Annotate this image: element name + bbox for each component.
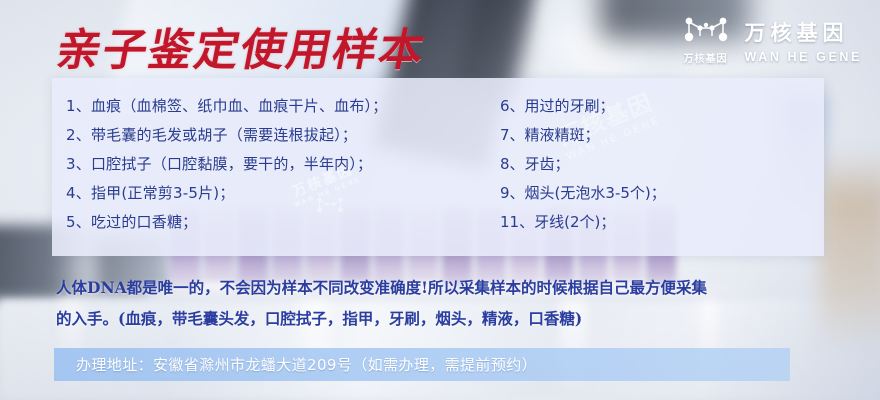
note-line-1: 人体DNA都是唯一的，不会因为样本不同改变准确度!所以采集样本的时候根据自己最方… [56,278,707,297]
list-item: 1、血痕（血棉签、纸巾血、血痕干片、血布）； [66,92,500,121]
list-item: 3、口腔拭子（口腔黏膜，要干的，半年内）； [66,150,500,179]
list-item: 4、指甲(正常剪3-5片)； [66,179,500,208]
list-item: 6、用过的牙刷； [500,92,824,121]
page-title: 亲子鉴定使用样本 [52,14,432,78]
list-item: 7、精液精斑； [500,121,824,150]
sample-list-right: 6、用过的牙刷； 7、精液精斑； 8、牙齿； 9、烟头(无泡水3-5个)； 11… [500,92,824,256]
logo-mark-label: 万核基因 [684,50,728,65]
list-item: 11、牙线(2个)； [500,208,824,237]
list-item: 9、烟头(无泡水3-5个)； [500,179,824,208]
brand-name-cn: 万核基因 [745,17,849,47]
sample-columns: 1、血痕（血棉签、纸巾血、血痕干片、血布）； 2、带毛囊的毛发或胡子（需要连根拔… [52,78,824,256]
address-bar: 办理地址：安徽省滁州市龙蟠大道209号（如需办理，需提前预约） [54,348,790,381]
brand-logo: 万核基因 万核基因 WAN HE GENE [683,16,863,65]
molecule-icon [683,16,729,46]
address-text: 办理地址：安徽省滁州市龙蟠大道209号（如需办理，需提前预约） [54,354,537,375]
logo-mark: 万核基因 [683,16,729,65]
brand-name-en: WAN HE GENE [745,50,863,64]
sample-list-left: 1、血痕（血棉签、纸巾血、血痕干片、血布）； 2、带毛囊的毛发或胡子（需要连根拔… [52,92,500,256]
logo-wordmark: 万核基因 WAN HE GENE [745,17,863,64]
note-paragraph: 人体DNA都是唯一的，不会因为样本不同改变准确度!所以采集样本的时候根据自己最方… [56,272,846,334]
note-line-2: 的入手。(血痕，带毛囊头发，口腔拭子，指甲，牙刷，烟头，精液，口香糖) [56,303,846,334]
list-item: 8、牙齿； [500,150,824,179]
list-item: 2、带毛囊的毛发或胡子（需要连根拔起）； [66,121,500,150]
list-item: 5、吃过的口香糖； [66,208,500,237]
sample-list-card: 万核基因 WAN HE GENE 万核基因 WAN HE GENE [52,78,824,256]
